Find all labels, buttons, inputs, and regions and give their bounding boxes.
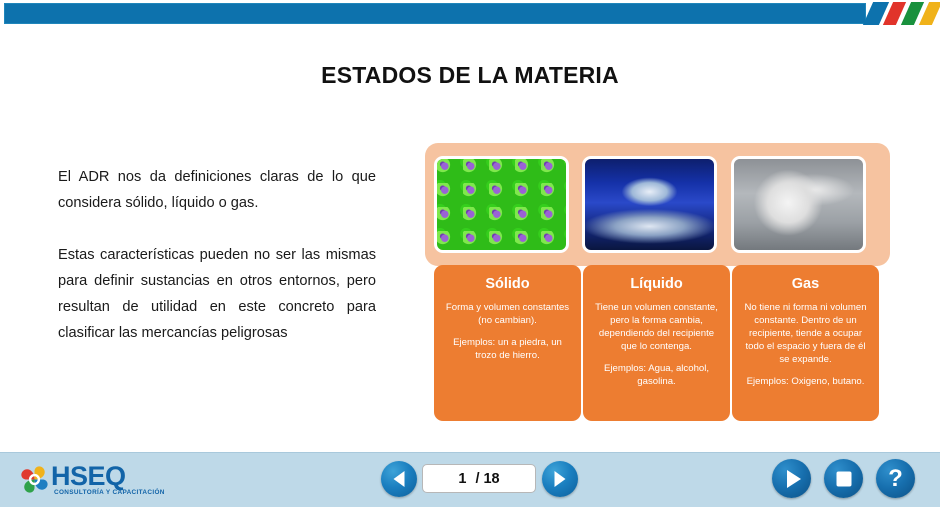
state-card-description: Forma y volumen constantes (no cambian). [443, 301, 572, 327]
logo-wordmark: HSEQ [51, 461, 126, 491]
next-slide-button[interactable] [542, 461, 578, 497]
state-card-examples: Ejemplos: Oxigeno, butano. [741, 375, 870, 388]
arrow-right-icon [555, 471, 566, 487]
state-card-description: No tiene ni forma ni volumen constante. … [741, 301, 870, 366]
logo-tagline: CONSULTORÍA Y CAPACITACIÓN [54, 489, 165, 496]
state-card-gas: Gas No tiene ni forma ni volumen constan… [732, 265, 879, 421]
hseq-logo: HSEQ CONSULTORÍA Y CAPACITACIÓN [18, 461, 188, 499]
state-card-examples: Ejemplos: un a piedra, un trozo de hierr… [443, 336, 572, 362]
pinwheel-logo-icon [18, 463, 51, 496]
state-card-title: Líquido [592, 276, 721, 293]
state-card-title: Sólido [443, 276, 572, 293]
stop-button[interactable] [824, 459, 863, 498]
state-card-liquido: Líquido Tiene un volumen constante, pero… [583, 265, 730, 421]
help-button[interactable]: ? [876, 459, 915, 498]
arrow-left-icon [394, 471, 405, 487]
water-droplet-graphic [585, 159, 714, 250]
states-of-matter-diagram: Sólido Forma y volumen constantes (no ca… [425, 143, 890, 421]
body-paragraph-2: Estas características pueden no ser las … [58, 242, 376, 346]
water-droplet-image [582, 156, 717, 253]
banner-stripe-decoration [866, 2, 940, 26]
smoke-cloud-image [731, 156, 866, 253]
top-banner [4, 3, 866, 24]
page-indicator[interactable]: 1 / 18 [422, 464, 536, 493]
crystal-lattice-image [434, 156, 569, 253]
slide-navigation: 1 / 18 [381, 461, 578, 499]
stop-icon [836, 471, 851, 486]
playback-controls: ? [772, 459, 922, 499]
smoke-cloud-graphic [734, 159, 863, 250]
state-cards: Sólido Forma y volumen constantes (no ca… [434, 265, 890, 421]
play-icon [787, 470, 801, 488]
thumbnail-panel [425, 143, 890, 266]
slide-body-text: El ADR nos da definiciones claras de lo … [58, 164, 376, 346]
body-paragraph-1: El ADR nos da definiciones claras de lo … [58, 164, 376, 216]
question-mark-icon: ? [888, 467, 903, 491]
crystal-lattice-graphic [437, 159, 566, 250]
state-card-solido: Sólido Forma y volumen constantes (no ca… [434, 265, 581, 421]
state-card-examples: Ejemplos: Agua, alcohol, gasolina. [592, 362, 721, 388]
page-title: ESTADOS DE LA MATERIA [0, 62, 940, 89]
state-card-title: Gas [741, 276, 870, 293]
total-pages-label: / 18 [475, 471, 499, 487]
state-card-description: Tiene un volumen constante, pero la form… [592, 301, 721, 353]
play-button[interactable] [772, 459, 811, 498]
current-page-number: 1 [458, 471, 466, 487]
previous-slide-button[interactable] [381, 461, 417, 497]
